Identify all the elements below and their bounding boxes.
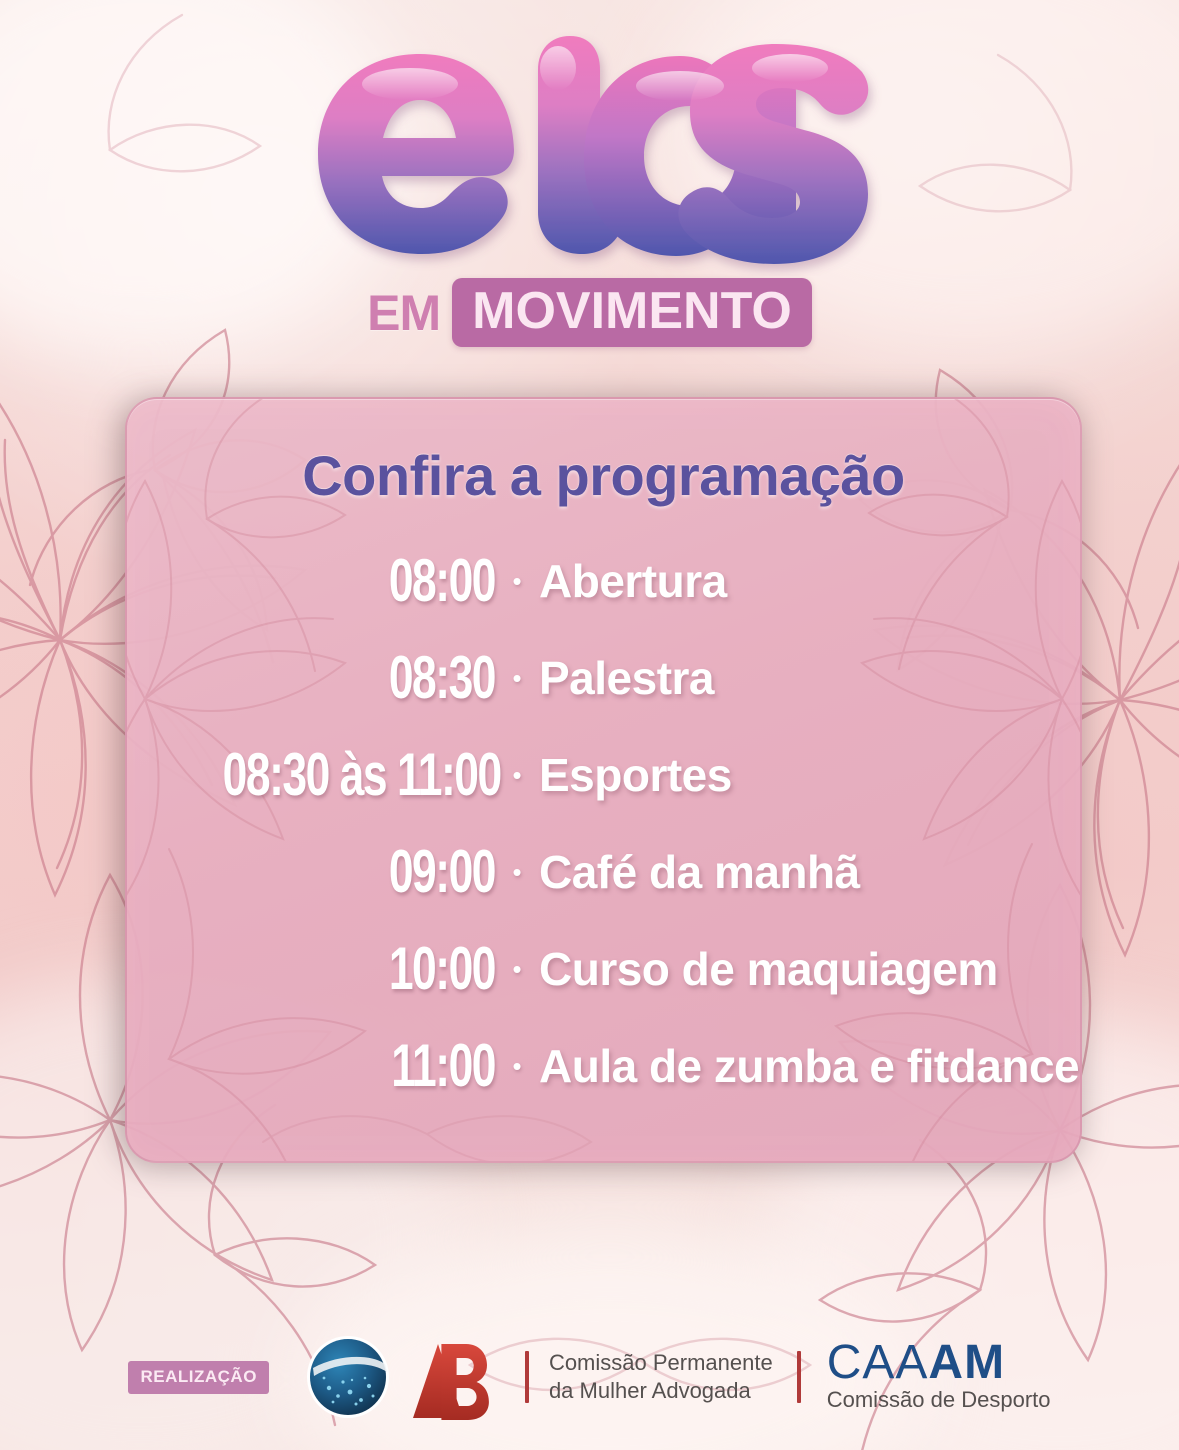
realizacao-badge: REALIZAÇÃO <box>128 1361 268 1394</box>
footer-divider-2 <box>797 1351 801 1403</box>
bullet-icon: • <box>495 956 539 982</box>
schedule-event: Café da manhã <box>539 849 860 895</box>
caaam-subtitle: Comissão de Desporto <box>827 1387 1051 1413</box>
elas-wordmark <box>290 26 890 276</box>
schedule-row: 08:00 • Abertura <box>127 532 1080 629</box>
schedule-row: 11:00 • Aula de zumba e fitdance <box>127 1017 1080 1114</box>
footer-divider <box>525 1351 529 1403</box>
caaam-light-part: CAA <box>827 1336 929 1389</box>
schedule-list: 08:00 • Abertura 08:30 • Palestra 08:30 … <box>127 532 1080 1114</box>
oab-line-1: Comissão Permanente <box>549 1349 773 1377</box>
schedule-event: Esportes <box>539 752 732 798</box>
schedule-card: Confira a programação 08:00 • Abertura 0… <box>125 397 1082 1163</box>
schedule-row: 08:30 • Palestra <box>127 629 1080 726</box>
schedule-row: 08:30 às 11:00 • Esportes <box>127 726 1080 823</box>
caaam-logo: CAAAM Comissão de Desporto <box>827 1340 1051 1413</box>
poster-canvas: EM MOVIMENTO <box>0 0 1179 1450</box>
caaam-acronym: CAAAM <box>827 1340 1051 1386</box>
schedule-time: 08:30 às 11:00 <box>223 745 495 805</box>
oab-commission-text: Comissão Permanente da Mulher Advogada <box>549 1349 773 1405</box>
schedule-event: Aula de zumba e fitdance <box>539 1043 1079 1089</box>
schedule-row: 10:00 • Curso de maquiagem <box>127 920 1080 1017</box>
logo-movimento-word: MOVIMENTO <box>472 285 792 337</box>
bullet-icon: • <box>495 568 539 594</box>
schedule-event: Curso de maquiagem <box>539 946 998 992</box>
schedule-row: 09:00 • Café da manhã <box>127 823 1080 920</box>
event-logo <box>0 26 1179 276</box>
logo-subtitle: EM MOVIMENTO <box>0 278 1179 347</box>
page-title: Confira a programação <box>127 443 1080 508</box>
bullet-icon: • <box>495 859 539 885</box>
schedule-event: Palestra <box>539 655 714 701</box>
logo-movimento-pill: MOVIMENTO <box>452 278 812 347</box>
schedule-time: 08:00 <box>223 551 495 611</box>
schedule-event: Abertura <box>539 558 727 604</box>
schedule-time: 08:30 <box>223 648 495 708</box>
schedule-time: 09:00 <box>223 842 495 902</box>
oab-logo: Comissão Permanente da Mulher Advogada <box>305 1334 773 1420</box>
schedule-time: 11:00 <box>223 1036 495 1096</box>
bullet-icon: • <box>495 665 539 691</box>
bullet-icon: • <box>495 762 539 788</box>
logo-em-word: EM <box>367 288 452 338</box>
oab-line-2: da Mulher Advogada <box>549 1377 773 1405</box>
oab-acronym-mark <box>305 1334 505 1420</box>
caaam-bold-part: AM <box>928 1336 1005 1389</box>
bullet-icon: • <box>495 1053 539 1079</box>
schedule-time: 10:00 <box>223 939 495 999</box>
footer-bar: REALIZAÇÃO <box>0 1334 1179 1420</box>
